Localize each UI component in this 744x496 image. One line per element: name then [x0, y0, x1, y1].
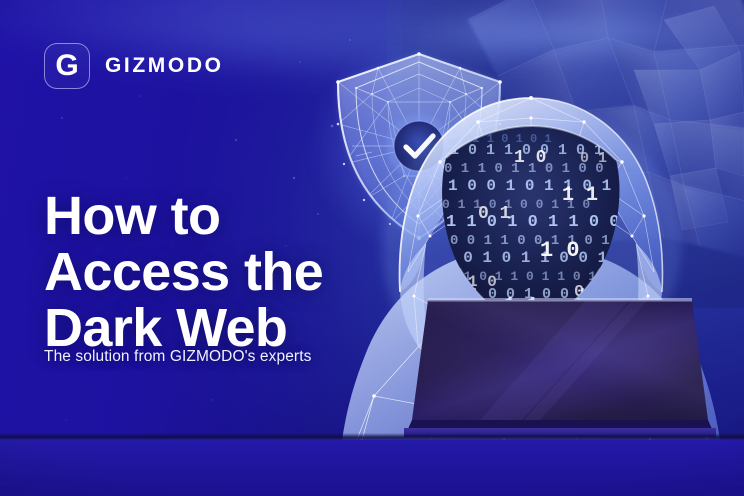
dark-web-promo-banner: 1 0 1 1 0 0 1 0 1 1 0 1 1 0 1 1 0 1 0 0 … [0, 0, 744, 496]
vignette-overlay [0, 0, 744, 496]
